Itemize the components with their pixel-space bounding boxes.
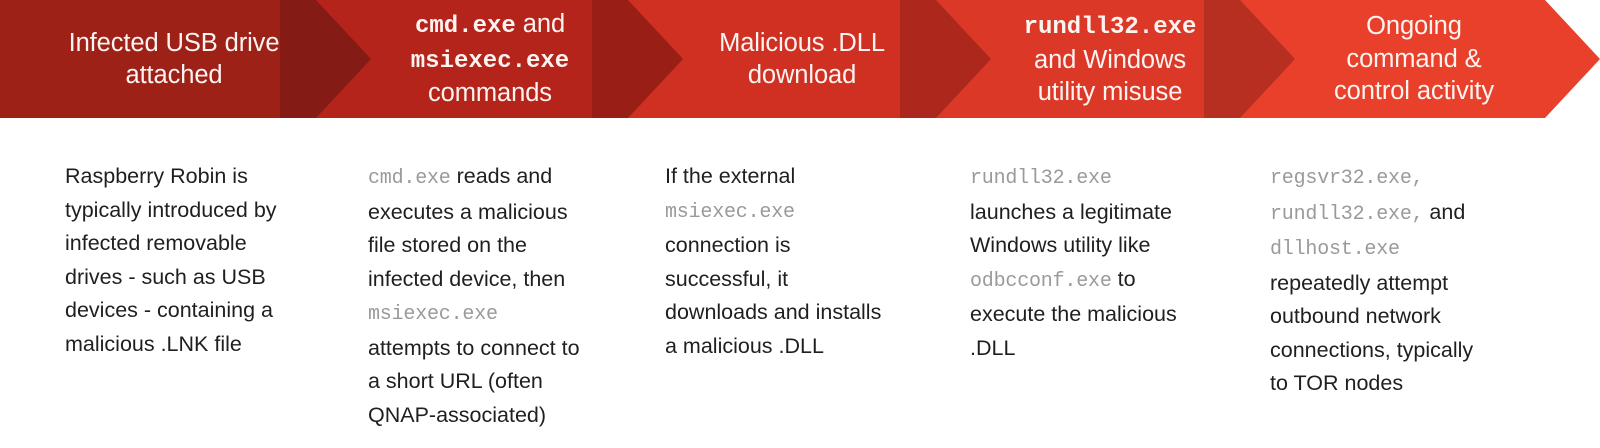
text-line: odbcconf.exe to: [970, 263, 1255, 299]
inline-text: infected removable: [65, 231, 247, 255]
text-line: file stored on the: [368, 229, 653, 263]
inline-text: typically introduced by: [65, 198, 277, 222]
text-line: devices - containing a: [65, 294, 350, 328]
stage-description-columns: Raspberry Robin istypically introduced b…: [0, 160, 1600, 448]
text-line: cmd.exe reads and: [368, 160, 653, 196]
inline-text: QNAP-associated): [368, 403, 546, 427]
attack-chain-infographic: Infected USB driveattached cmd.exe andms…: [0, 0, 1600, 448]
inline-code: dllhost.exe: [1270, 238, 1400, 261]
text-line: launches a legitimate: [970, 196, 1255, 230]
text-line: drives - such as USB: [65, 261, 350, 295]
inline-code: rundll32.exe: [970, 167, 1112, 190]
inline-text: execute the malicious: [970, 302, 1177, 326]
inline-code: odbcconf.exe: [970, 270, 1112, 293]
inline-text: successful, it: [665, 267, 788, 291]
inline-code: msiexec.exe: [368, 303, 498, 326]
inline-text: connections, typically: [1270, 338, 1473, 362]
text-line: rundll32.exe: [970, 160, 1255, 196]
inline-text: launches a legitimate: [970, 200, 1172, 224]
text-line: a malicious .DLL: [665, 330, 950, 364]
text-line: msiexec.exe: [665, 194, 950, 230]
text-line: rundll32.exe, and: [1270, 196, 1570, 232]
text-line: executes a malicious: [368, 196, 653, 230]
inline-text: executes a malicious: [368, 200, 568, 224]
stage-description-3: If the externalmsiexec.execonnection iss…: [665, 160, 950, 363]
text-line: downloads and installs: [665, 296, 950, 330]
inline-text: downloads and installs: [665, 300, 881, 324]
text-line: a short URL (often: [368, 365, 653, 399]
inline-text: Windows utility like: [970, 233, 1150, 257]
text-line: to TOR nodes: [1270, 367, 1570, 401]
inline-text: reads and: [451, 164, 553, 188]
inline-code: cmd.exe: [368, 167, 451, 190]
text-line: connection is: [665, 229, 950, 263]
inline-text: connection is: [665, 233, 791, 257]
inline-text: a malicious .DLL: [665, 334, 824, 358]
text-line: repeatedly attempt: [1270, 267, 1570, 301]
stage-description-2: cmd.exe reads andexecutes a maliciousfil…: [368, 160, 653, 432]
text-line: execute the malicious: [970, 298, 1255, 332]
inline-text: attempts to connect to: [368, 336, 580, 360]
inline-text: to: [1112, 267, 1136, 291]
inline-text: a short URL (often: [368, 369, 543, 393]
stage-description-1: Raspberry Robin istypically introduced b…: [65, 160, 350, 361]
text-line: If the external: [665, 160, 950, 194]
text-line: msiexec.exe: [368, 296, 653, 332]
text-line: .DLL: [970, 332, 1255, 366]
inline-code: rundll32.exe,: [1270, 203, 1423, 226]
text-line: malicious .LNK file: [65, 328, 350, 362]
inline-text: to TOR nodes: [1270, 371, 1403, 395]
text-line: infected device, then: [368, 263, 653, 297]
text-line: successful, it: [665, 263, 950, 297]
chevron-shapes: [0, 0, 1600, 120]
text-line: dllhost.exe: [1270, 231, 1570, 267]
text-line: connections, typically: [1270, 334, 1570, 368]
inline-code: msiexec.exe: [665, 201, 795, 224]
text-line: typically introduced by: [65, 194, 350, 228]
inline-text: malicious .LNK file: [65, 332, 242, 356]
text-line: QNAP-associated): [368, 399, 653, 433]
text-line: outbound network: [1270, 300, 1570, 334]
text-line: regsvr32.exe,: [1270, 160, 1570, 196]
text-line: Raspberry Robin is: [65, 160, 350, 194]
inline-text: repeatedly attempt: [1270, 271, 1448, 295]
inline-text: and: [1423, 200, 1465, 224]
inline-text: devices - containing a: [65, 298, 273, 322]
inline-text: file stored on the: [368, 233, 527, 257]
text-line: Windows utility like: [970, 229, 1255, 263]
inline-text: .DLL: [970, 336, 1015, 360]
inline-text: outbound network: [1270, 304, 1441, 328]
inline-text: drives - such as USB: [65, 265, 266, 289]
text-line: attempts to connect to: [368, 332, 653, 366]
inline-text: If the external: [665, 164, 795, 188]
stage-description-5: regsvr32.exe,rundll32.exe, anddllhost.ex…: [1270, 160, 1570, 401]
inline-text: infected device, then: [368, 267, 565, 291]
text-line: infected removable: [65, 227, 350, 261]
stage-description-4: rundll32.exelaunches a legitimateWindows…: [970, 160, 1255, 365]
inline-text: Raspberry Robin is: [65, 164, 248, 188]
inline-code: regsvr32.exe,: [1270, 167, 1423, 190]
chevron-stage-band: Infected USB driveattached cmd.exe andms…: [0, 0, 1600, 120]
